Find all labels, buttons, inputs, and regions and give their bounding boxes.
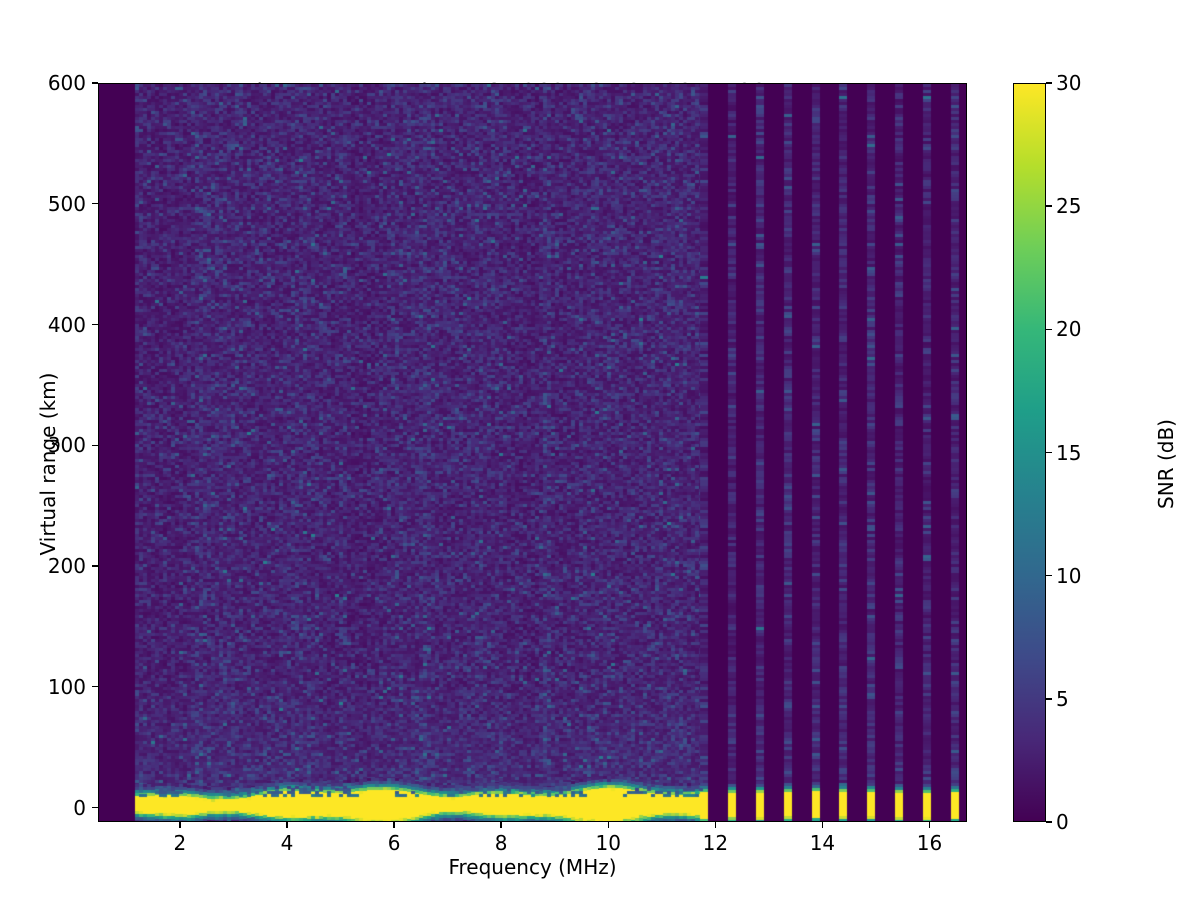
colorbar-tick-label: 10 — [1056, 564, 1126, 588]
y-tick-mark — [92, 807, 98, 808]
x-tick-mark — [393, 822, 394, 828]
y-tick-mark — [92, 445, 98, 446]
x-tick-label: 14 — [792, 831, 852, 855]
x-tick-label: 12 — [685, 831, 745, 855]
ionogram-plot-area[interactable] — [98, 83, 967, 822]
y-axis-label: Virtual range (km) — [36, 184, 60, 744]
x-axis-label: Frequency (MHz) — [98, 855, 967, 879]
ionogram-heatmap-canvas — [99, 84, 967, 822]
y-tick-label: 600 — [6, 71, 86, 95]
x-tick-label: 6 — [364, 831, 424, 855]
y-tick-mark — [92, 565, 98, 566]
ionogram-figure: IRF Kiruna Ionosonde KI167 2025-04-07 00… — [0, 0, 1200, 900]
colorbar-tick-mark — [1046, 329, 1052, 330]
x-tick-label: 4 — [257, 831, 317, 855]
colorbar-tick-mark — [1046, 698, 1052, 699]
y-tick-mark — [92, 203, 98, 204]
colorbar-tick-label: 5 — [1056, 687, 1126, 711]
y-tick-mark — [92, 686, 98, 687]
colorbar-tick-label: 0 — [1056, 810, 1126, 834]
x-tick-mark — [286, 822, 287, 828]
x-tick-label: 2 — [150, 831, 210, 855]
y-tick-label: 0 — [6, 796, 86, 820]
colorbar-tick-mark — [1046, 452, 1052, 453]
x-tick-mark — [500, 822, 501, 828]
colorbar-tick-mark — [1046, 82, 1052, 83]
x-tick-mark — [608, 822, 609, 828]
colorbar-tick-mark — [1046, 205, 1052, 206]
x-tick-mark — [822, 822, 823, 828]
colorbar-tick-mark — [1046, 575, 1052, 576]
x-tick-mark — [179, 822, 180, 828]
colorbar-tick-label: 25 — [1056, 194, 1126, 218]
colorbar-gradient — [1014, 84, 1045, 821]
colorbar-tick-label: 30 — [1056, 71, 1126, 95]
x-tick-label: 16 — [900, 831, 960, 855]
x-tick-mark — [715, 822, 716, 828]
x-tick-label: 8 — [471, 831, 531, 855]
y-tick-mark — [92, 82, 98, 83]
colorbar-tick-label: 20 — [1056, 317, 1126, 341]
y-tick-mark — [92, 324, 98, 325]
colorbar-label: SNR (dB) — [1154, 234, 1178, 694]
colorbar[interactable] — [1013, 83, 1046, 822]
x-tick-label: 10 — [578, 831, 638, 855]
x-tick-mark — [929, 822, 930, 828]
colorbar-tick-label: 15 — [1056, 441, 1126, 465]
colorbar-tick-mark — [1046, 821, 1052, 822]
